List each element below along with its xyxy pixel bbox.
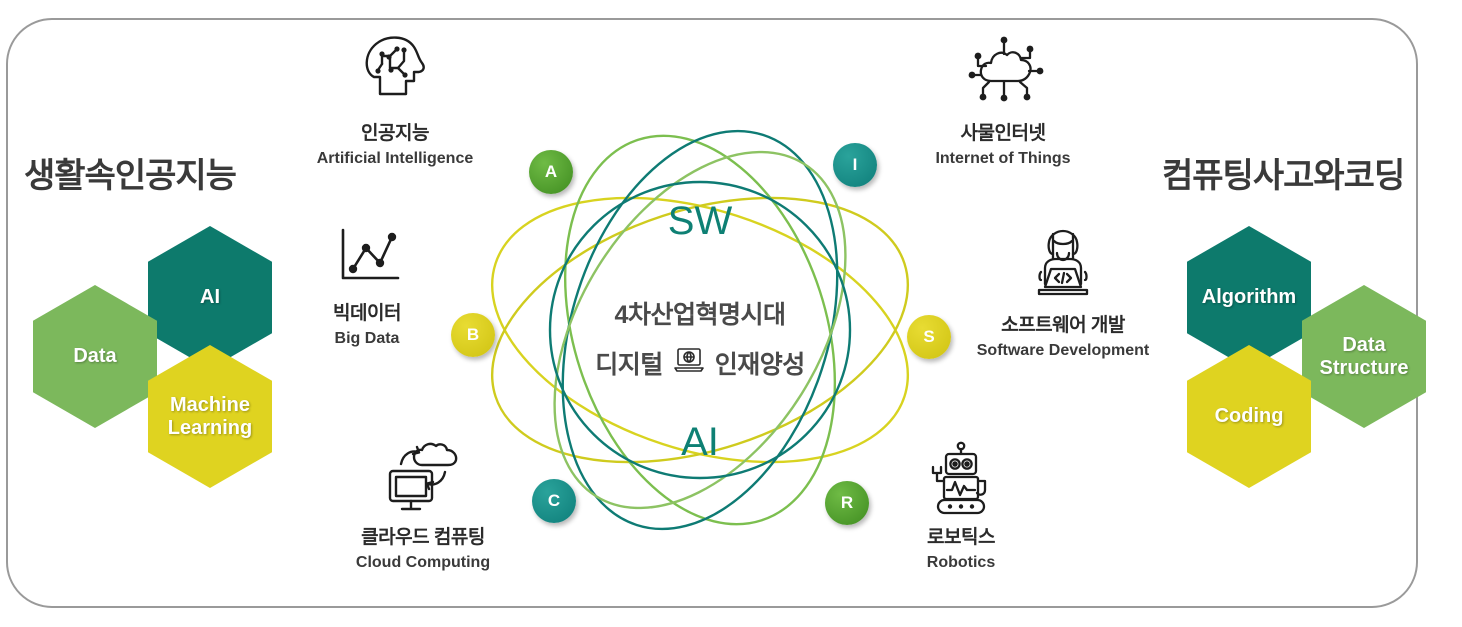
center-message-line2: 디지털 인재양성 (545, 345, 855, 381)
hex-coding-label: Coding (1215, 405, 1284, 427)
topic-software-development: 소프트웨어 개발 Software Development (958, 228, 1168, 360)
badge-r-letter: R (841, 493, 853, 513)
hex-data-label: Data (73, 345, 116, 367)
badge-b-letter: B (467, 325, 479, 345)
hex-machine-learning-label: MachineLearning (168, 394, 252, 439)
badge-a-letter: A (545, 162, 557, 182)
badge-s[interactable]: S (907, 315, 951, 359)
center-label-sw: SW (640, 199, 760, 244)
developer-laptop-icon (958, 228, 1168, 304)
badge-s-letter: S (923, 327, 934, 347)
badge-b[interactable]: B (451, 313, 495, 357)
badge-i-letter: I (853, 155, 858, 175)
laptop-globe-icon (673, 347, 705, 380)
hex-algorithm-label: Algorithm (1202, 286, 1296, 308)
infographic-canvas: 생활속인공지능 AI Data MachineLearning 컴퓨팅사고와코딩… (0, 0, 1462, 627)
topic-sw-ko: 소프트웨어 개발 (958, 310, 1168, 337)
hex-ai-label: AI (200, 286, 220, 308)
badge-c[interactable]: C (532, 479, 576, 523)
center-message: 4차산업혁명시대 디지털 인재양성 (545, 295, 855, 381)
badge-r[interactable]: R (825, 481, 869, 525)
topic-sw-en: Software Development (958, 342, 1168, 360)
badge-a[interactable]: A (529, 150, 573, 194)
right-section-title: 컴퓨팅사고와코딩 (1162, 148, 1404, 197)
left-section-title: 생활속인공지능 (24, 148, 236, 197)
center-label-ai: AI (640, 420, 760, 465)
center-message-line1: 4차산업혁명시대 (545, 295, 855, 331)
center-message-line2-right: 인재양성 (715, 345, 805, 381)
badge-i[interactable]: I (833, 143, 877, 187)
hex-data-structure-label: DataStructure (1320, 334, 1409, 379)
badge-c-letter: C (548, 491, 560, 511)
center-message-line2-left: 디지털 (595, 345, 663, 381)
